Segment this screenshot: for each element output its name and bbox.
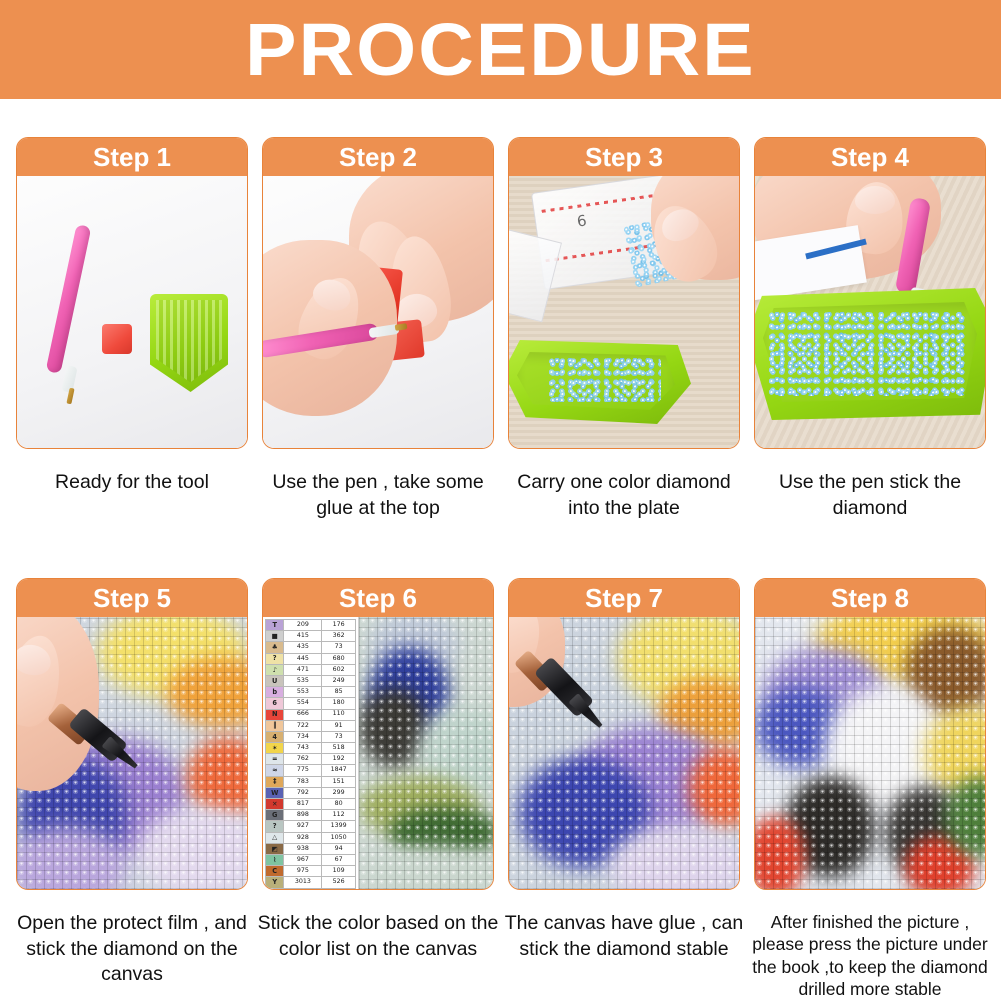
- color-code: 743: [284, 743, 322, 754]
- step-header-label-3: Step 3: [585, 144, 663, 170]
- color-swatch-symbol: W: [266, 787, 284, 798]
- step-photo-4: [755, 176, 985, 448]
- color-list-row: ■415362: [266, 631, 356, 642]
- color-list-row: W792299: [266, 787, 356, 798]
- color-count: 91: [322, 720, 356, 731]
- color-list-row: Y3013526: [266, 877, 356, 888]
- page-banner: PROCEDURE: [0, 0, 1001, 99]
- color-swatch-symbol: =: [266, 754, 284, 765]
- color-list-row: b55385: [266, 687, 356, 698]
- color-swatch-symbol: ■: [266, 631, 284, 642]
- color-list-row: ✕81780: [266, 799, 356, 810]
- step-caption-5: Open the protect film , and stick the di…: [8, 911, 256, 988]
- step-card-8: Step 8: [754, 578, 986, 890]
- color-count: 94: [322, 843, 356, 854]
- color-code: 666: [284, 709, 322, 720]
- color-code: 975: [284, 866, 322, 877]
- color-swatch-symbol: 6: [266, 698, 284, 709]
- step-card-5: Step 5: [16, 578, 248, 890]
- color-code: 817: [284, 799, 322, 810]
- color-count: 110: [322, 709, 356, 720]
- step-card-4: Step 4: [754, 137, 986, 449]
- color-list-row: ✶743518: [266, 743, 356, 754]
- color-swatch-symbol: ‖: [266, 720, 284, 731]
- color-code: 722: [284, 720, 322, 731]
- color-code: 762: [284, 754, 322, 765]
- color-code: 554: [284, 698, 322, 709]
- step-caption-2: Use the pen , take some glue at the top: [254, 470, 502, 521]
- color-swatch-symbol: 4: [266, 731, 284, 742]
- color-swatch-symbol: ✕: [266, 799, 284, 810]
- step-card-7: Step 7: [508, 578, 740, 890]
- procedure-infographic: PROCEDURE Step 1 Step: [0, 0, 1001, 1001]
- step-caption-8: After finished the picture , please pres…: [746, 911, 994, 1001]
- color-swatch-symbol: T: [266, 620, 284, 631]
- step-caption-6: Stick the color based on the color list …: [254, 911, 502, 962]
- step-header-6: Step 6: [263, 579, 493, 617]
- color-code: 898: [284, 810, 322, 821]
- color-swatch-symbol: △: [266, 832, 284, 843]
- page-title: PROCEDURE: [245, 13, 755, 87]
- step-card-6: Step 6 T20: [262, 578, 494, 890]
- color-list-row: ♣43573: [266, 642, 356, 653]
- color-list-row: 6554180: [266, 698, 356, 709]
- color-swatch-symbol: ⌇: [266, 854, 284, 865]
- step-photo-2: [263, 176, 493, 448]
- color-code: 209: [284, 620, 322, 631]
- step-header-label-1: Step 1: [93, 144, 171, 170]
- color-swatch-symbol: ♣: [266, 642, 284, 653]
- step-card-1: Step 1: [16, 137, 248, 449]
- step-header-label-5: Step 5: [93, 585, 171, 611]
- step-photo-6: T209176■415362♣43573?445680♪471602U53524…: [263, 617, 493, 889]
- color-list-row: =762192: [266, 754, 356, 765]
- color-list-row: △9281050: [266, 832, 356, 843]
- color-count: 192: [322, 754, 356, 765]
- color-swatch-symbol: b: [266, 687, 284, 698]
- step-photo-3: 6: [509, 176, 739, 448]
- color-list-row: ‖72291: [266, 720, 356, 731]
- color-count: 67: [322, 854, 356, 865]
- color-count: 80: [322, 799, 356, 810]
- color-list-row: 473473: [266, 731, 356, 742]
- color-count: 1050: [322, 832, 356, 843]
- color-swatch-symbol: ?: [266, 653, 284, 664]
- step-photo-5: [17, 617, 247, 889]
- color-code: 775: [284, 765, 322, 776]
- color-code: 967: [284, 854, 322, 865]
- color-count: 151: [322, 776, 356, 787]
- color-count: 109: [322, 866, 356, 877]
- color-count: 1399: [322, 821, 356, 832]
- step-header-1: Step 1: [17, 138, 247, 176]
- color-count: 249: [322, 675, 356, 686]
- color-swatch-symbol: N: [266, 709, 284, 720]
- color-code: 928: [284, 832, 322, 843]
- color-swatch-symbol: ?: [266, 821, 284, 832]
- step-header-8: Step 8: [755, 579, 985, 617]
- color-count: 680: [322, 653, 356, 664]
- step-header-label-7: Step 7: [585, 585, 663, 611]
- step-caption-1: Ready for the tool: [8, 470, 256, 496]
- step-caption-3: Carry one color diamond into the plate: [500, 470, 748, 521]
- color-list-body: T209176■415362♣43573?445680♪471602U53524…: [266, 620, 356, 889]
- color-swatch-symbol: U: [266, 675, 284, 686]
- color-list-row: ≈7751847: [266, 765, 356, 776]
- color-count: 85: [322, 687, 356, 698]
- color-list-row: T209176: [266, 620, 356, 631]
- color-count: 112: [322, 810, 356, 821]
- color-list-row: ‡783151: [266, 776, 356, 787]
- color-swatch-symbol: ≈: [266, 765, 284, 776]
- color-swatch-symbol: ♪: [266, 664, 284, 675]
- color-count: 362: [322, 631, 356, 642]
- step-header-2: Step 2: [263, 138, 493, 176]
- color-count: 518: [322, 743, 356, 754]
- color-code: 927: [284, 821, 322, 832]
- color-count: 602: [322, 664, 356, 675]
- step-caption-7: The canvas have glue , can stick the dia…: [500, 911, 748, 962]
- color-swatch-symbol: C: [266, 866, 284, 877]
- color-code: 535: [284, 675, 322, 686]
- color-swatch-symbol: ✶: [266, 743, 284, 754]
- step-header-7: Step 7: [509, 579, 739, 617]
- step-header-label-6: Step 6: [339, 585, 417, 611]
- color-code: 415: [284, 631, 322, 642]
- color-count: 176: [322, 620, 356, 631]
- color-code: 553: [284, 687, 322, 698]
- color-code: 783: [284, 776, 322, 787]
- color-list-table: T209176■415362♣43573?445680♪471602U53524…: [265, 619, 356, 889]
- step-header-label-2: Step 2: [339, 144, 417, 170]
- color-list-row: ♪471602: [266, 664, 356, 675]
- step-photo-1: [17, 176, 247, 448]
- mosaic-canvas-6: [359, 617, 493, 889]
- color-list-row: ◩93894: [266, 843, 356, 854]
- color-code: 3013: [284, 877, 322, 888]
- color-count: 73: [322, 642, 356, 653]
- color-count: 1847: [322, 765, 356, 776]
- color-list-row: C975109: [266, 866, 356, 877]
- step-card-2: Step 2: [262, 137, 494, 449]
- step-header-label-8: Step 8: [831, 585, 909, 611]
- color-code: 938: [284, 843, 322, 854]
- color-list-row: U535249: [266, 675, 356, 686]
- color-swatch-symbol: ◩: [266, 843, 284, 854]
- color-list-row: G898112: [266, 810, 356, 821]
- color-swatch-symbol: G: [266, 810, 284, 821]
- color-code: 445: [284, 653, 322, 664]
- color-list-row: ?9271399: [266, 821, 356, 832]
- color-count: 526: [322, 877, 356, 888]
- step-photo-8: [755, 617, 985, 889]
- step-card-3: Step 3 6: [508, 137, 740, 449]
- mosaic-canvas-8: [755, 617, 985, 889]
- color-list-row: ⌇96767: [266, 854, 356, 865]
- color-code: 792: [284, 787, 322, 798]
- color-list-row: N666110: [266, 709, 356, 720]
- step-photo-7: [509, 617, 739, 889]
- color-list-row: ?445680: [266, 653, 356, 664]
- step-caption-4: Use the pen stick the diamond: [746, 470, 994, 521]
- color-swatch-symbol: Y: [266, 877, 284, 888]
- color-swatch-symbol: ‡: [266, 776, 284, 787]
- color-count: 180: [322, 698, 356, 709]
- color-count: 299: [322, 787, 356, 798]
- color-list-chart: T209176■415362♣43573?445680♪471602U53524…: [263, 617, 359, 889]
- step-header-label-4: Step 4: [831, 144, 909, 170]
- step-header-5: Step 5: [17, 579, 247, 617]
- step-header-3: Step 3: [509, 138, 739, 176]
- color-code: 435: [284, 642, 322, 653]
- color-code: 734: [284, 731, 322, 742]
- color-count: 73: [322, 731, 356, 742]
- step-header-4: Step 4: [755, 138, 985, 176]
- color-code: 471: [284, 664, 322, 675]
